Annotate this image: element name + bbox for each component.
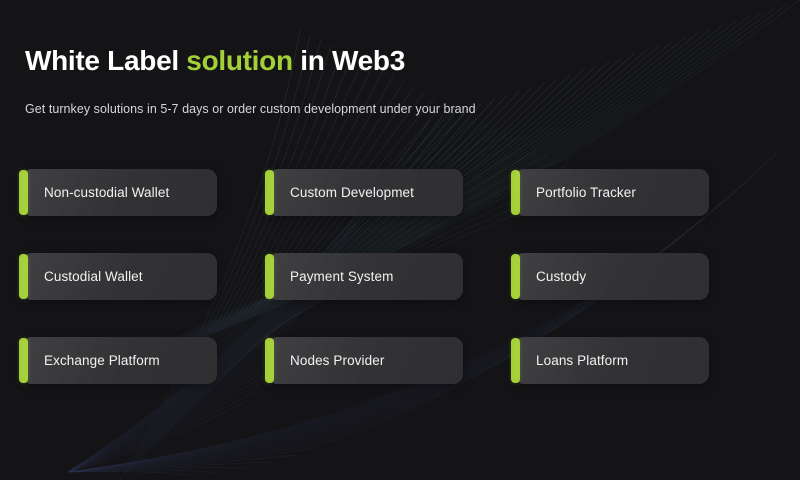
service-card-non-custodial-wallet[interactable]: Non-custodial Wallet: [22, 169, 217, 216]
service-card-custodial-wallet[interactable]: Custodial Wallet: [22, 253, 217, 300]
service-card-nodes-provider[interactable]: Nodes Provider: [268, 337, 463, 384]
service-card-label: Custom Developmet: [268, 185, 424, 200]
service-card-grid: Non-custodial Wallet Custom Developmet P…: [22, 169, 712, 384]
service-card-label: Portfolio Tracker: [514, 185, 646, 200]
service-card-loans-platform[interactable]: Loans Platform: [514, 337, 709, 384]
page-title-part1: White Label: [25, 45, 186, 76]
service-card-label: Payment System: [268, 269, 403, 284]
page-root: White Label solution in Web3 Get turnkey…: [0, 0, 800, 480]
service-card-exchange-platform[interactable]: Exchange Platform: [22, 337, 217, 384]
service-card-label: Custody: [514, 269, 596, 284]
service-card-portfolio-tracker[interactable]: Portfolio Tracker: [514, 169, 709, 216]
service-card-label: Custodial Wallet: [22, 269, 153, 284]
service-card-payment-system[interactable]: Payment System: [268, 253, 463, 300]
service-card-label: Loans Platform: [514, 353, 638, 368]
page-subtitle: Get turnkey solutions in 5-7 days or ord…: [25, 101, 476, 119]
service-card-label: Non-custodial Wallet: [22, 185, 179, 200]
service-card-label: Nodes Provider: [268, 353, 394, 368]
service-card-label: Exchange Platform: [22, 353, 170, 368]
service-card-custody[interactable]: Custody: [514, 253, 709, 300]
header: White Label solution in Web3 Get turnkey…: [25, 44, 765, 77]
page-title-part2: in Web3: [293, 45, 405, 76]
page-title: White Label solution in Web3: [25, 44, 765, 77]
service-card-custom-development[interactable]: Custom Developmet: [268, 169, 463, 216]
page-title-accent: solution: [186, 45, 292, 76]
